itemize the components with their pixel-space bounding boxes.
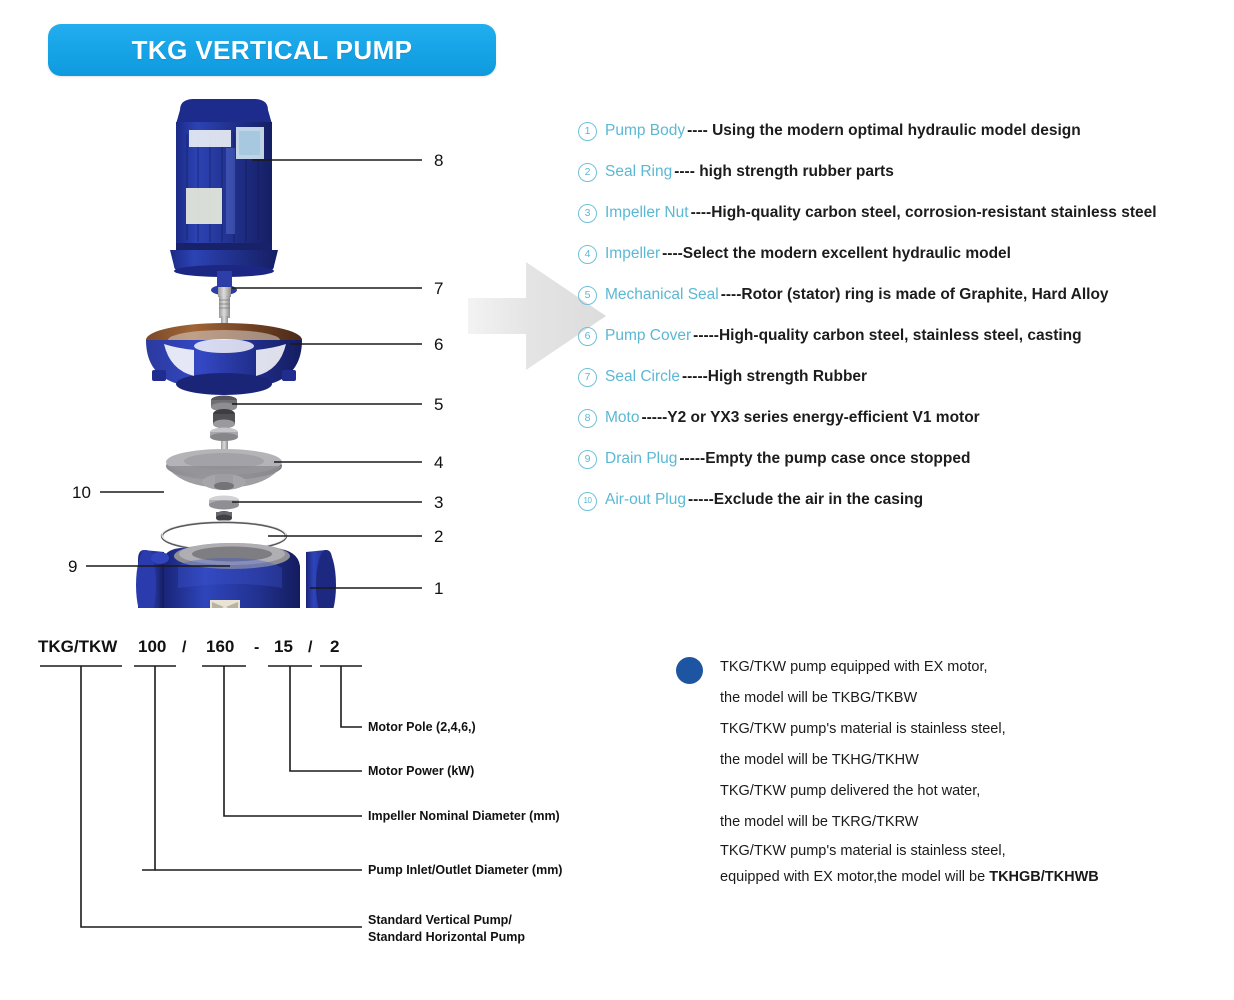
part-name-1: Pump Body — [605, 122, 685, 140]
part-number-badge-5: 5 — [578, 286, 597, 305]
callout-number-6: 6 — [434, 335, 443, 354]
model-variant-notes: TKG/TKW pump equipped with EX motor, the… — [676, 652, 1221, 890]
callout-number-7: 7 — [434, 279, 443, 298]
note-line-8: equipped with EX motor,the model will be… — [720, 864, 1221, 890]
component-motor — [170, 99, 278, 277]
part-number-badge-10: 10 — [578, 492, 597, 511]
code-segment-impeller: 160 — [206, 637, 234, 656]
part-desc-3: ----High-quality carbon steel, corrosion… — [691, 204, 1157, 222]
code-separator-3: / — [308, 639, 313, 656]
part-row-10: 10 Air-out Plug -----Exclude the air in … — [578, 491, 1228, 532]
part-desc-1: ---- Using the modern optimal hydraulic … — [687, 122, 1081, 140]
part-desc-8: -----Y2 or YX3 series energy-efficient V… — [641, 409, 979, 427]
nomenclature-callout-2: Motor Power (kW) — [368, 764, 474, 778]
part-number-badge-7: 7 — [578, 368, 597, 387]
callout-number-9: 9 — [68, 557, 77, 576]
part-number-badge-4: 4 — [578, 245, 597, 264]
code-separator-1: / — [182, 639, 187, 656]
exploded-pump-diagram: 8 7 6 5 4 3 2 1 10 9 — [60, 88, 500, 608]
part-row-6: 6 Pump Cover -----High-quality carbon st… — [578, 327, 1228, 368]
note-line-5: TKG/TKW pump delivered the hot water, — [720, 776, 1221, 807]
bullet-dot-icon — [676, 657, 703, 684]
part-desc-7: -----High strength Rubber — [682, 368, 867, 386]
callout-number-1: 1 — [434, 579, 443, 598]
page-title: TKG VERTICAL PUMP — [48, 24, 496, 76]
part-desc-2: ---- high strength rubber parts — [674, 163, 894, 181]
part-number-badge-8: 8 — [578, 409, 597, 428]
callout-number-5: 5 — [434, 395, 443, 414]
part-name-7: Seal Circle — [605, 368, 680, 386]
part-number-badge-2: 2 — [578, 163, 597, 182]
part-name-9: Drain Plug — [605, 450, 677, 468]
part-name-4: Impeller — [605, 245, 660, 263]
part-row-7: 7 Seal Circle -----High strength Rubber — [578, 368, 1228, 409]
part-number-badge-6: 6 — [578, 327, 597, 346]
part-desc-6: -----High-quality carbon steel, stainles… — [693, 327, 1081, 345]
part-name-5: Mechanical Seal — [605, 286, 719, 304]
code-separator-2: - — [254, 639, 259, 656]
component-pump-body — [136, 543, 336, 608]
code-segment-inlet: 100 — [138, 637, 166, 656]
callout-number-8: 8 — [434, 151, 443, 170]
part-number-badge-9: 9 — [578, 450, 597, 469]
nomenclature-callout-3: Impeller Nominal Diameter (mm) — [368, 809, 560, 823]
part-desc-9: -----Empty the pump case once stopped — [679, 450, 970, 468]
callout-number-4: 4 — [434, 453, 443, 472]
part-row-2: 2 Seal Ring ---- high strength rubber pa… — [578, 163, 1228, 204]
note-line-3: TKG/TKW pump's material is stainless ste… — [720, 714, 1221, 745]
nomenclature-callout-5b: Standard Horizontal Pump — [368, 930, 525, 944]
note-line-7: TKG/TKW pump's material is stainless ste… — [720, 838, 1221, 864]
part-number-badge-3: 3 — [578, 204, 597, 223]
component-pump-cover — [146, 323, 302, 395]
nomenclature-callout-4: Pump Inlet/Outlet Diameter (mm) — [368, 863, 562, 877]
part-name-6: Pump Cover — [605, 327, 691, 345]
note-line-2: the model will be TKBG/TKBW — [720, 683, 1221, 714]
code-segment-pole: 2 — [330, 637, 339, 656]
part-name-10: Air-out Plug — [605, 491, 686, 509]
model-nomenclature-diagram: TKG/TKW 100 / 160 - 15 / 2 Motor Pole (2… — [24, 628, 624, 958]
part-name-3: Impeller Nut — [605, 204, 689, 222]
part-row-1: 1 Pump Body ---- Using the modern optima… — [578, 122, 1228, 163]
part-name-8: Moto — [605, 409, 639, 427]
note-line-4: the model will be TKHG/TKHW — [720, 745, 1221, 776]
code-segment-power: 15 — [274, 637, 293, 656]
part-row-3: 3 Impeller Nut ----High-quality carbon s… — [578, 204, 1228, 245]
part-row-8: 8 Moto -----Y2 or YX3 series energy-effi… — [578, 409, 1228, 450]
callout-number-2: 2 — [434, 527, 443, 546]
parts-description-list: 1 Pump Body ---- Using the modern optima… — [578, 122, 1228, 532]
note-line-1: TKG/TKW pump equipped with EX motor, — [720, 652, 1221, 683]
callout-number-3: 3 — [434, 493, 443, 512]
part-number-badge-1: 1 — [578, 122, 597, 141]
part-desc-10: -----Exclude the air in the casing — [688, 491, 923, 509]
component-impeller — [166, 441, 282, 490]
nomenclature-callout-1: Motor Pole (2,4,6,) — [368, 720, 476, 734]
part-row-9: 9 Drain Plug -----Empty the pump case on… — [578, 450, 1228, 491]
component-impeller-nut — [209, 496, 239, 522]
part-name-2: Seal Ring — [605, 163, 672, 181]
part-desc-4: ----Select the modern excellent hydrauli… — [662, 245, 1011, 263]
part-row-4: 4 Impeller ----Select the modern excelle… — [578, 245, 1228, 286]
code-segment-series: TKG/TKW — [38, 637, 118, 656]
callout-number-10: 10 — [72, 483, 91, 502]
component-mechanical-seal — [210, 396, 238, 442]
part-row-5: 5 Mechanical Seal ----Rotor (stator) rin… — [578, 286, 1228, 327]
part-desc-5: ----Rotor (stator) ring is made of Graph… — [721, 286, 1109, 304]
page-title-banner: TKG VERTICAL PUMP — [48, 24, 496, 76]
note-line-6: the model will be TKRG/TKRW — [720, 807, 1221, 838]
nomenclature-callout-5a: Standard Vertical Pump/ — [368, 913, 512, 927]
